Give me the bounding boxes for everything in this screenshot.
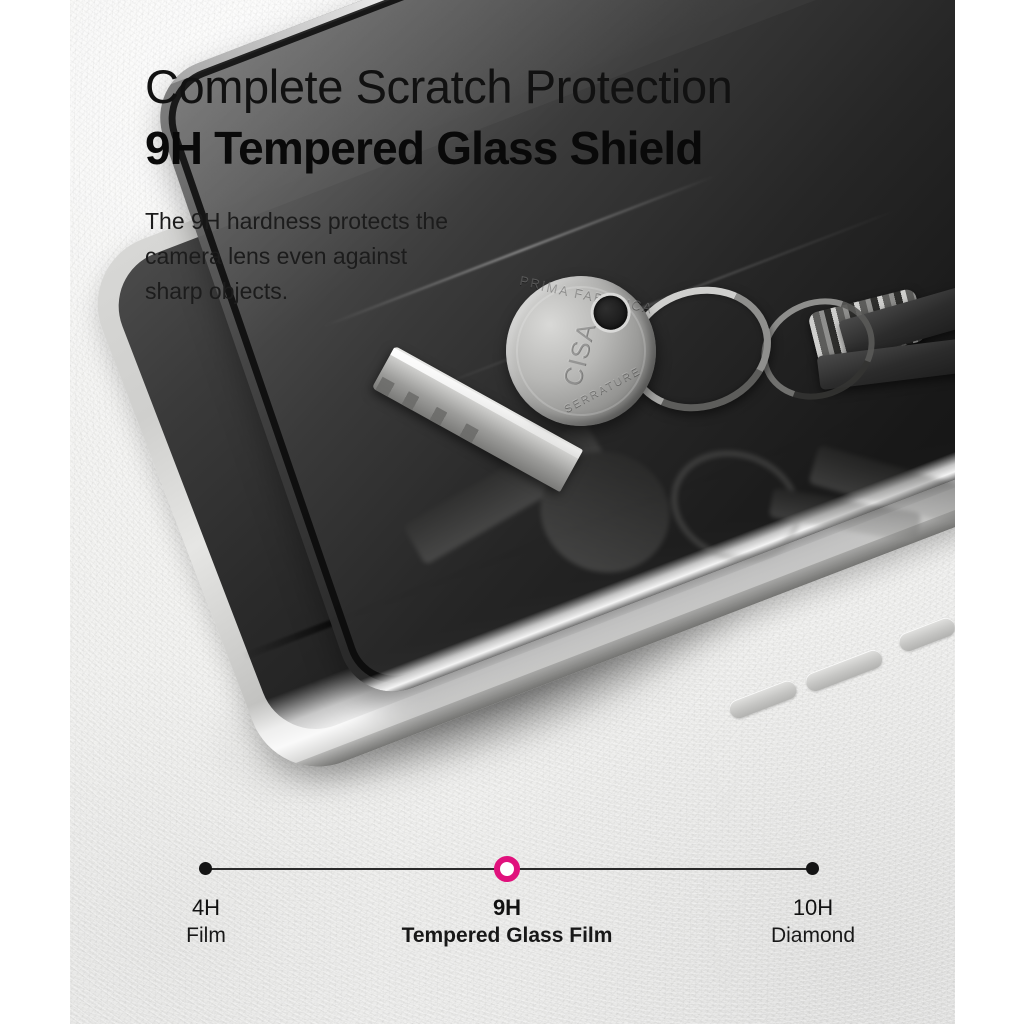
scale-marker-10h — [806, 862, 819, 875]
scale-name-4h: Film — [106, 922, 306, 950]
scale-hardness-4h: 4H — [106, 894, 306, 922]
scale-hardness-9h: 9H — [347, 894, 667, 922]
hardness-scale: 4H Film 9H Tempered Glass Film 10H Diamo… — [0, 0, 1024, 1024]
scale-marker-9h-highlight — [494, 856, 520, 882]
product-feature-image: PRIMA FABBRICA CISA SERRATURE Complete S… — [0, 0, 1024, 1024]
scale-label-4h: 4H Film — [106, 894, 306, 950]
scale-label-9h: 9H Tempered Glass Film — [347, 894, 667, 950]
scale-name-10h: Diamond — [713, 922, 913, 950]
scale-hardness-10h: 10H — [713, 894, 913, 922]
scale-marker-4h — [199, 862, 212, 875]
scale-label-10h: 10H Diamond — [713, 894, 913, 950]
scale-name-9h: Tempered Glass Film — [347, 922, 667, 950]
